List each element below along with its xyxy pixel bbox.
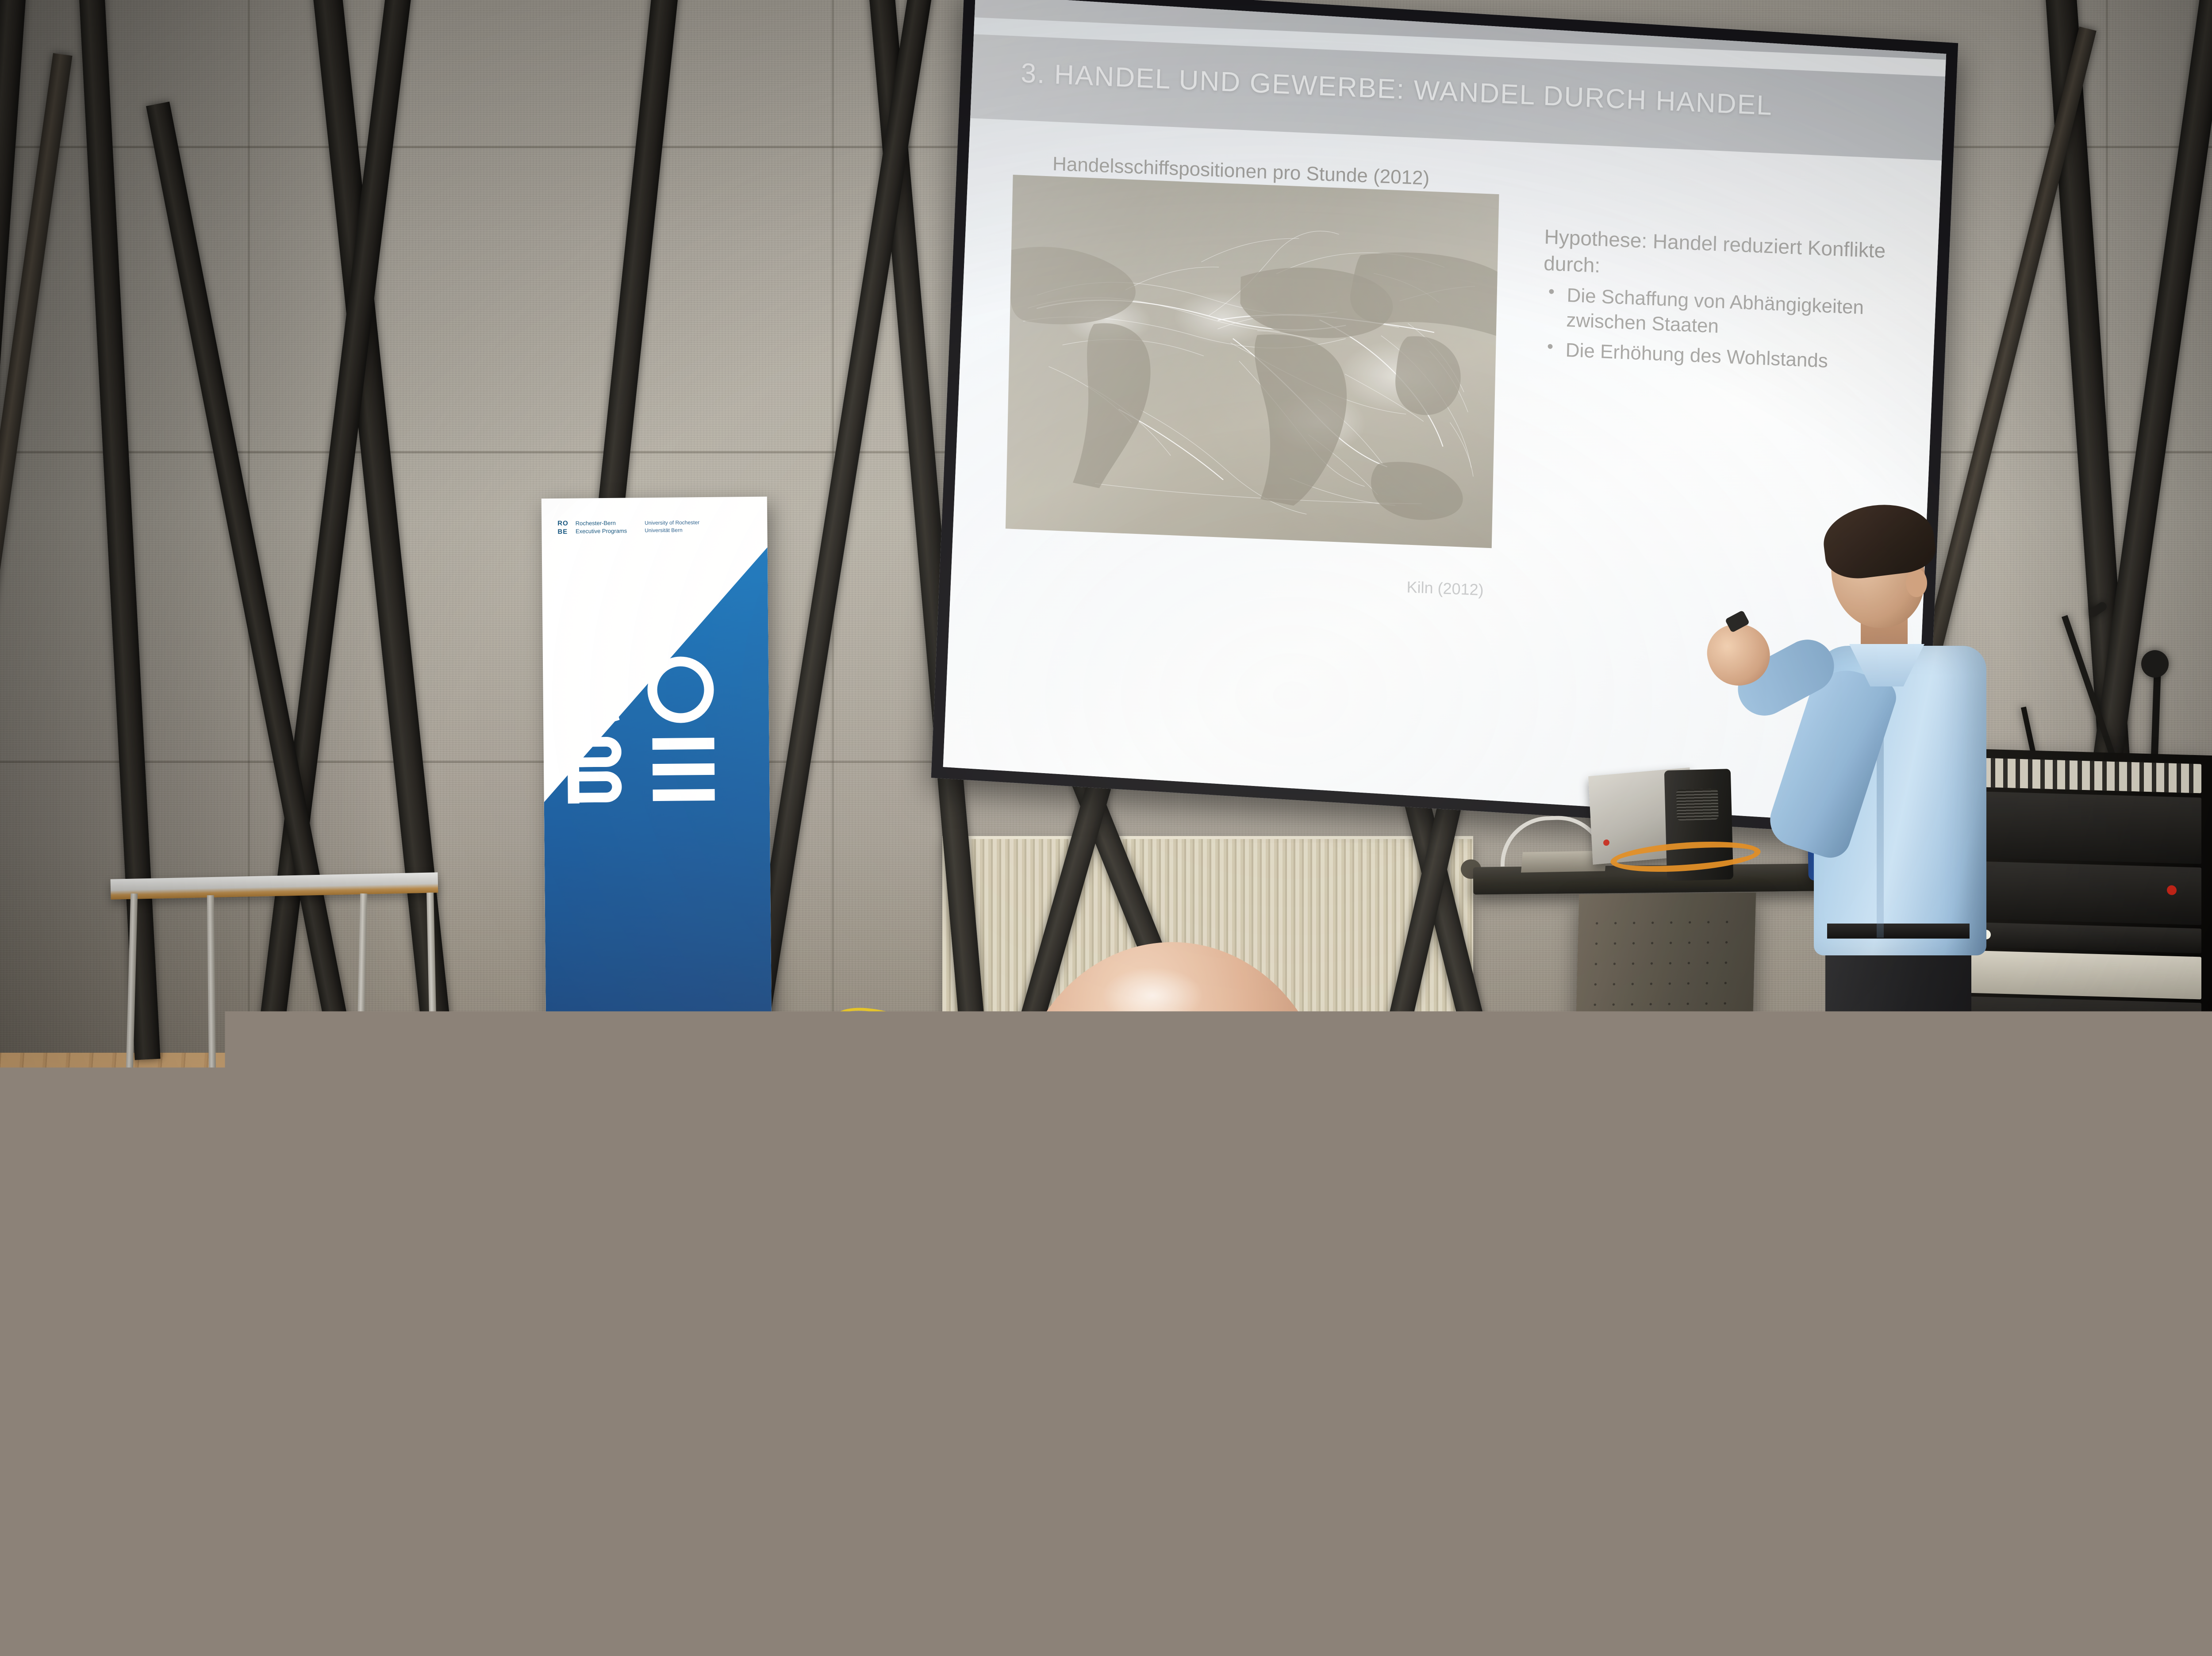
presenter-shoe-left	[1809, 1314, 1898, 1353]
attendee-foreground	[752, 924, 1690, 1656]
presenter-shoe-right	[1840, 1349, 1938, 1388]
presenter-trousers	[1825, 929, 1971, 1265]
banner-org-text: Rochester-Bern Executive Programs	[576, 519, 627, 535]
robe-mark-line-1: RO	[557, 520, 568, 526]
banner-tagline: We'll change the way you think.	[568, 1042, 749, 1059]
rack-bottom-panel	[1966, 1140, 2201, 1184]
name-tent: RO BE Rochester-Bern Executive Programs …	[553, 1250, 743, 1342]
tent-org-line-2: Executive Programs	[228, 1237, 272, 1244]
tent-logo: RO BE Rochester-Bern Executive Programs …	[214, 1231, 329, 1245]
hypothesis-block: Hypothese: Handel reduziert Konflikte du…	[1541, 224, 1942, 379]
tent-org-text: Rochester-Bern Executive Programs	[587, 1265, 631, 1279]
tent-university-text: University of Rochester Universität Bern	[641, 1267, 687, 1280]
name-tent: RO BE Rochester-Bern Executive Programs …	[195, 1216, 385, 1302]
patch-panel	[1966, 758, 2201, 793]
tent-logo: RO BE Rochester-Bern Executive Programs …	[573, 1265, 687, 1280]
robe-logo-mark: RO BE	[573, 1265, 583, 1278]
figure-source: Kiln (2012)	[1406, 578, 1484, 599]
tent-university-line-2: Universität Bern	[641, 1273, 687, 1280]
water-level	[139, 1283, 194, 1347]
rack-amplifier	[1966, 791, 2201, 864]
tent-org-text: Rochester-Bern Executive Programs	[228, 1231, 273, 1244]
letter-o-glyph	[647, 656, 723, 728]
tent-university-line-2: Universität Bern	[282, 1238, 328, 1244]
robe-mark-line-2: BE	[214, 1238, 224, 1243]
rollup-banner: RO BE Rochester-Bern Executive Programs …	[541, 497, 772, 1131]
banner-university-text: University of Rochester Universität Bern	[645, 519, 699, 533]
presenter-belt	[1827, 924, 1970, 939]
robe-logo-mark: RO BE	[557, 520, 568, 535]
attendee-name: Patri...	[571, 1298, 626, 1319]
banner-org-line-2: Executive Programs	[576, 527, 627, 535]
laptop-indicator-led	[1603, 839, 1610, 846]
wireless-receivers	[1966, 1096, 2201, 1143]
patch-panel-2	[1966, 1066, 2201, 1100]
banner-university-line-2: Universität Bern	[645, 526, 699, 534]
rack-controller	[1966, 922, 2201, 954]
banner-robe-wordmark	[564, 656, 724, 807]
hypothesis-bullet: Die Schaffung von Abhängigkeiten zwische…	[1542, 282, 1941, 348]
attendee-head-highlight	[1102, 967, 1203, 1024]
microphone-head	[2141, 650, 2169, 678]
rack-amplifier-2	[1966, 861, 2201, 925]
presenter-ear	[1906, 569, 1927, 597]
presenter-leg-seam	[1889, 1044, 1894, 1265]
rack-blank-panel	[1966, 997, 2201, 1069]
letter-b-glyph	[565, 736, 640, 807]
robe-mark-line-2: BE	[573, 1272, 583, 1278]
banner-university-line-1: University of Rochester	[645, 519, 699, 526]
rack-control-panel	[1966, 951, 2201, 1000]
hypothesis-bullet-list: Die Schaffung von Abhängigkeiten zwische…	[1541, 282, 1941, 379]
banner-tagline-block: We'll change the way you think. rocheste…	[568, 1042, 749, 1074]
tent-org-line-2: Executive Programs	[587, 1272, 630, 1279]
robe-mark-line-1: RO	[215, 1231, 224, 1237]
robe-mark-line-2: BE	[557, 528, 568, 535]
power-led	[2167, 885, 2177, 895]
banner-url: rochester-bern.ch	[568, 1058, 749, 1074]
robe-mark-line-1: RO	[573, 1265, 583, 1271]
world-shipping-map	[1006, 175, 1499, 548]
lectern-column	[1690, 1230, 1712, 1340]
banner-org-line-1: Rochester-Bern	[576, 519, 627, 528]
letter-e-glyph	[648, 735, 723, 806]
presentation-room-photo: 3. HANDEL UND GEWERBE: WANDEL DURCH HAND…	[0, 0, 2212, 1656]
presenter	[1783, 495, 1991, 1358]
banner-blue-field	[541, 497, 772, 1131]
speaker-grille	[1676, 789, 1719, 820]
attendee-name: Marco Rast	[212, 1262, 307, 1282]
banner-logo: RO BE Rochester-Bern Executive Programs …	[557, 518, 699, 535]
tent-org-line-1: Rochester-Bern	[228, 1231, 272, 1238]
letter-r-glyph	[564, 657, 640, 728]
robe-logo-mark: RO BE	[214, 1231, 224, 1243]
water-glass	[135, 1233, 197, 1350]
av-equipment-rack	[1955, 748, 2212, 1189]
tent-university-text: University of Rochester Universität Bern	[282, 1232, 329, 1244]
banner-base	[569, 1125, 755, 1138]
tent-university-line-1: University of Rochester	[283, 1232, 329, 1238]
